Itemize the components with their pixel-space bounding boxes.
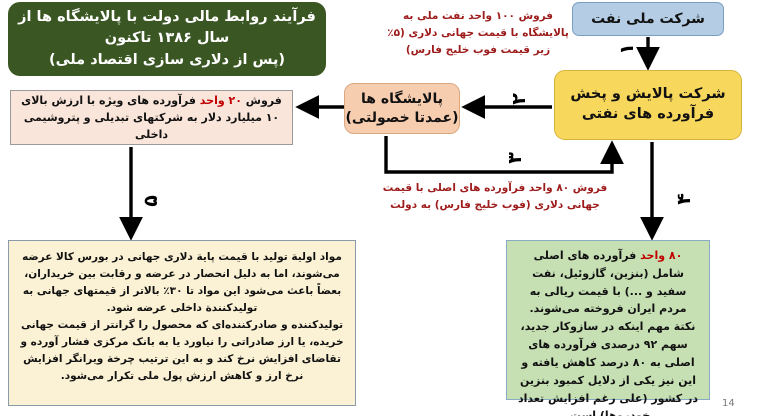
node-refineries-line-2: (عمدتا خصولتی) [345, 109, 458, 128]
box-bourse-paragraph-2: تولیدکننده و صادرکننده‌ای که محصول را گر… [19, 317, 345, 385]
node-refineries-line-1: پالایشگاه ها [345, 90, 458, 109]
box-special-products: فروش ۲۰ واحد فرآورده های ویژه با ارزش با… [10, 90, 293, 145]
box-special-products-prefix: فروش [242, 94, 282, 107]
node-refining-distribution-company: شرکت پالایش و پخش فرآورده های نفتی [554, 70, 742, 140]
annotation-sale-100-units: فروش ۱۰۰ واحد نفت ملی به پالایشگاه با قی… [378, 8, 578, 58]
title-line-3: (پس از دلاری سازی اقتصاد ملی) [18, 50, 316, 71]
title-line-1: فرآیند روابط مالی دولت با پالایشگاه ها ا… [18, 7, 316, 28]
node-national-oil-company: شرکت ملی نفت [572, 2, 724, 36]
box-main-products: ۸۰ واحد فرآورده های اصلی شامل (بنزین، گا… [506, 240, 710, 400]
box-main-products-highlight: ۸۰ واحد [640, 249, 682, 262]
slide-canvas: فرآیند روابط مالی دولت با پالایشگاه ها ا… [0, 0, 768, 416]
step-number-3: ۳ [504, 152, 526, 164]
box-bourse-paragraph-1: مواد اولیة تولید با قیمت پایة دلاری جهان… [19, 249, 345, 317]
node-refineries: پالایشگاه ها (عمدتا خصولتی) [344, 83, 460, 134]
node-refining-distribution-line-2: فرآورده های نفتی [570, 105, 725, 125]
arrow-step-3 [386, 136, 612, 172]
node-refining-distribution-line-1: شرکت پالایش و پخش [570, 85, 725, 105]
node-national-oil-company-label: شرکت ملی نفت [591, 10, 705, 29]
title-banner: فرآیند روابط مالی دولت با پالایشگاه ها ا… [8, 2, 326, 76]
page-number: 14 [722, 398, 735, 409]
box-bourse-explanation: مواد اولیة تولید با قیمت پایة دلاری جهان… [8, 240, 356, 406]
step-number-1: ۱ [616, 43, 638, 55]
step-number-2: ۲ [508, 93, 530, 105]
annotation-sale-80-units: فروش ۸۰ واحد فرآورده های اصلی با قیمت جه… [370, 180, 620, 214]
box-main-products-paragraph-2: نکتة مهم اینکه در سازوکار جدید، سهم ۹۲ د… [516, 318, 700, 416]
step-number-5: ۵ [140, 195, 162, 207]
box-special-products-highlight: ۲۰ واحد [200, 94, 242, 107]
title-line-2: سال ۱۳۸۶ تاکنون [18, 28, 316, 49]
step-number-4: ۴ [673, 193, 695, 205]
